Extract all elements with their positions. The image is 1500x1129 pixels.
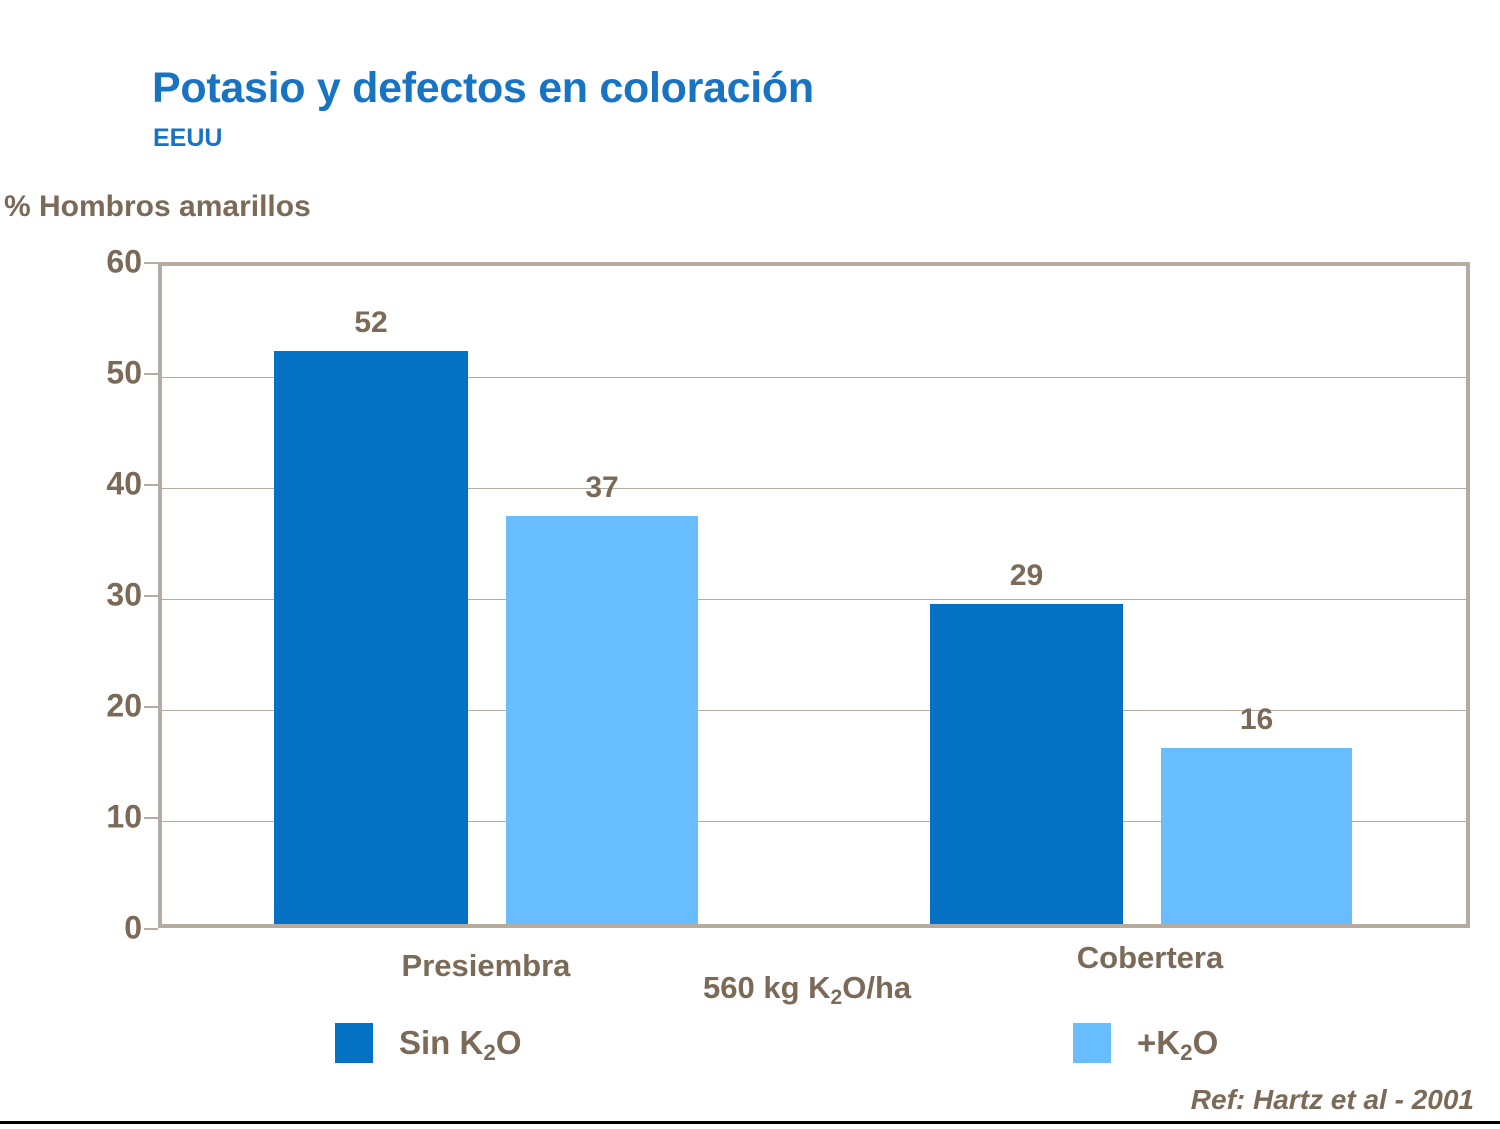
y-tick-mark-60 <box>144 262 158 264</box>
legend-label-mas-k2o-post: O <box>1193 1024 1219 1061</box>
bar-value-16: 16 <box>1161 703 1352 737</box>
y-tick-label-60: 60 <box>32 244 142 281</box>
y-tick-label-10: 10 <box>32 799 142 836</box>
legend-label-sin-k2o-post: O <box>496 1024 522 1061</box>
bar-cobertera-sin-k2o[interactable] <box>930 604 1123 924</box>
legend-swatch-icon-sin-k2o <box>335 1023 373 1063</box>
legend-label-sin-k2o-pre: Sin K <box>399 1024 483 1061</box>
x-axis-title-sub: 2 <box>831 986 843 1009</box>
source-reference: Ref: Hartz et al - 2001 <box>1191 1084 1474 1116</box>
legend-label-mas-k2o: +K2O <box>1137 1024 1218 1062</box>
chart-title: Potasio y defectos en coloración <box>152 64 814 113</box>
x-axis-title: 560 kg K2O/ha <box>703 970 911 1006</box>
bar-value-37: 37 <box>506 471 698 505</box>
legend-item-mas-k2o[interactable]: +K2O <box>1073 1023 1218 1063</box>
y-tick-mark-40 <box>144 484 158 486</box>
y-tick-label-30: 30 <box>32 577 142 614</box>
category-label-presiembra: Presiembra <box>296 948 676 984</box>
bar-cobertera-mas-k2o[interactable] <box>1161 748 1352 924</box>
legend-label-mas-k2o-pre: +K <box>1137 1024 1180 1061</box>
category-label-cobertera: Cobertera <box>960 940 1340 976</box>
y-tick-label-50: 50 <box>32 355 142 392</box>
y-tick-mark-50 <box>144 373 158 375</box>
legend-swatch-icon-mas-k2o <box>1073 1023 1111 1063</box>
legend-item-sin-k2o[interactable]: Sin K2O <box>335 1023 522 1063</box>
y-axis-title: % Hombros amarillos <box>4 190 311 224</box>
y-tick-mark-10 <box>144 817 158 819</box>
legend-label-sin-k2o: Sin K2O <box>399 1024 522 1062</box>
y-tick-mark-20 <box>144 706 158 708</box>
y-tick-mark-0 <box>144 928 158 930</box>
x-axis-title-post: O/ha <box>842 970 911 1005</box>
plot-area <box>158 262 1470 928</box>
x-axis-title-pre: 560 kg K <box>703 970 831 1005</box>
chart-subtitle: EEUU <box>153 124 222 153</box>
bar-presiembra-mas-k2o[interactable] <box>506 516 698 924</box>
bar-value-52: 52 <box>274 306 468 340</box>
y-tick-label-20: 20 <box>32 688 142 725</box>
bar-presiembra-sin-k2o[interactable] <box>274 351 468 924</box>
y-tick-mark-30 <box>144 595 158 597</box>
y-tick-label-0: 0 <box>32 910 142 947</box>
y-tick-label-40: 40 <box>32 466 142 503</box>
bottom-divider <box>0 1121 1500 1124</box>
legend-label-mas-k2o-sub: 2 <box>1180 1040 1192 1065</box>
legend-label-sin-k2o-sub: 2 <box>483 1040 495 1065</box>
bar-value-29: 29 <box>930 559 1123 593</box>
